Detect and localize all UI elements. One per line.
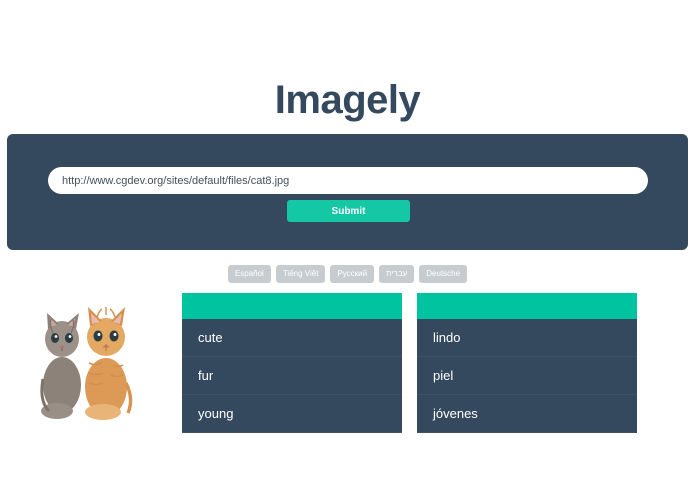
language-tabs: Español Tiếng Việt Русский עברית Deutsch… bbox=[0, 265, 695, 283]
tag-row[interactable]: jóvenes bbox=[417, 395, 637, 433]
language-tab-ru[interactable]: Русский bbox=[330, 265, 374, 283]
result-image bbox=[27, 293, 167, 420]
result-card-translated: lindo piel jóvenes bbox=[417, 293, 637, 433]
tag-row[interactable]: cute bbox=[182, 319, 402, 357]
language-tab-vi[interactable]: Tiếng Việt bbox=[276, 265, 326, 283]
language-tab-he[interactable]: עברית bbox=[379, 265, 414, 283]
result-card-english: cute fur young bbox=[182, 293, 402, 433]
language-tab-de[interactable]: Deutsche bbox=[419, 265, 467, 283]
tag-row[interactable]: piel bbox=[417, 357, 637, 395]
image-url-input[interactable] bbox=[48, 167, 648, 194]
search-panel: Submit bbox=[7, 134, 688, 250]
results-row: cute fur young lindo piel jóvenes bbox=[0, 293, 695, 494]
language-tab-es[interactable]: Español bbox=[228, 265, 271, 283]
submit-button[interactable]: Submit bbox=[287, 200, 410, 222]
app-root: Imagely Submit Español Tiếng Việt Русски… bbox=[0, 0, 695, 494]
tag-row[interactable]: lindo bbox=[417, 319, 637, 357]
tag-row[interactable]: fur bbox=[182, 357, 402, 395]
card-header-translated bbox=[417, 293, 637, 319]
tag-row[interactable]: young bbox=[182, 395, 402, 433]
kittens-illustration bbox=[27, 293, 167, 420]
page-title: Imagely bbox=[0, 0, 695, 122]
card-header-english bbox=[182, 293, 402, 319]
